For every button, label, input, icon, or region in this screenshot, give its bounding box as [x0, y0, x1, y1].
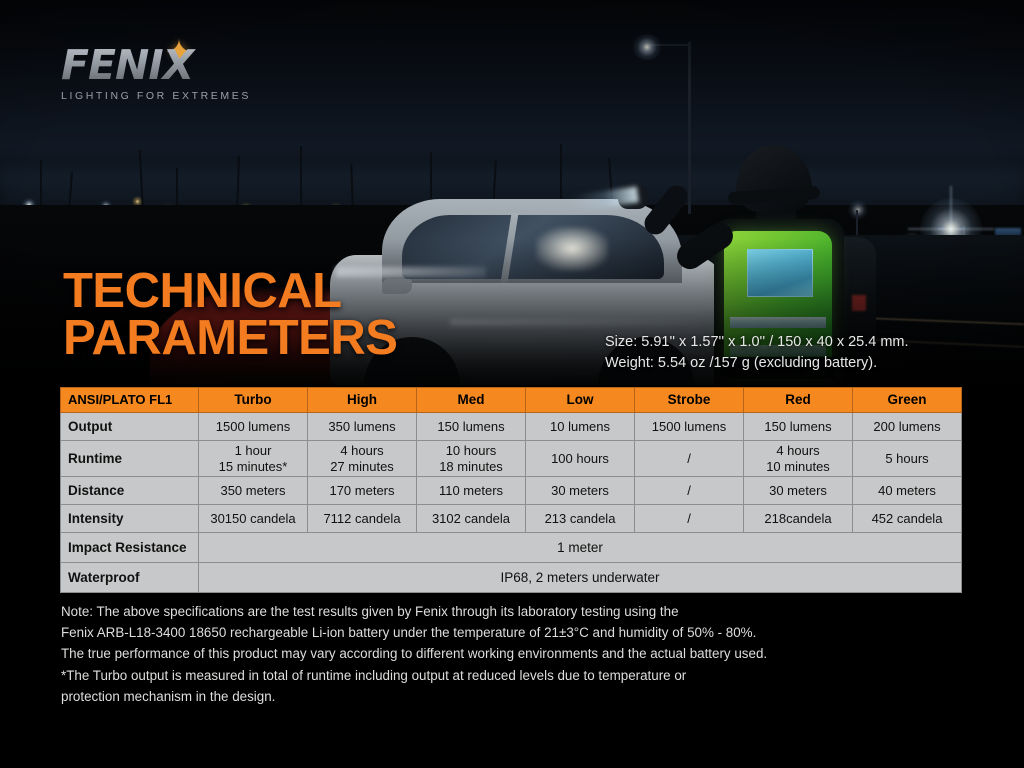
footnote-block: Note: The above specifications are the t… — [61, 601, 961, 707]
cell-runtime-green: 5 hours — [853, 441, 962, 477]
cell-runtime-strobe: / — [635, 441, 744, 477]
spec-table-wrapper: ANSI/PLATO FL1 Turbo High Med Low Strobe… — [60, 387, 962, 593]
cell-distance-med: 110 meters — [417, 477, 526, 505]
cell-line: 15 minutes* — [205, 459, 301, 474]
row-label-distance: Distance — [61, 477, 199, 505]
cell-distance-low: 30 meters — [526, 477, 635, 505]
row-label-waterproof: Waterproof — [61, 563, 199, 593]
cell-line: 18 minutes — [423, 459, 519, 474]
cell-output-low: 10 lumens — [526, 413, 635, 441]
cell-output-green: 200 lumens — [853, 413, 962, 441]
column-header-turbo: Turbo — [199, 388, 308, 413]
cell-output-strobe: 1500 lumens — [635, 413, 744, 441]
table-row: Waterproof IP68, 2 meters underwater — [61, 563, 962, 593]
cell-intensity-red: 218candela — [744, 505, 853, 533]
page-title-line2: PARAMETERS — [63, 315, 397, 362]
cell-distance-turbo: 350 meters — [199, 477, 308, 505]
size-text: Size: 5.91'' x 1.57'' x 1.0'' / 150 x 40… — [605, 332, 909, 353]
row-label-runtime: Runtime — [61, 441, 199, 477]
main-lamp-post — [688, 42, 691, 214]
car-interior-light — [536, 227, 608, 271]
table-row: Distance 350 meters 170 meters 110 meter… — [61, 477, 962, 505]
cell-line: 4 hours — [314, 443, 410, 458]
footnote-line-4: *The Turbo output is measured in total o… — [61, 665, 961, 686]
cell-distance-high: 170 meters — [308, 477, 417, 505]
column-header-red: Red — [744, 388, 853, 413]
row-label-intensity: Intensity — [61, 505, 199, 533]
cell-distance-green: 40 meters — [853, 477, 962, 505]
cell-waterproof-value: IP68, 2 meters underwater — [199, 563, 962, 593]
table-row: Intensity 30150 candela 7112 candela 310… — [61, 505, 962, 533]
footnote-line-5: protection mechanism in the design. — [61, 686, 961, 707]
column-header-high: High — [308, 388, 417, 413]
table-header-row: ANSI/PLATO FL1 Turbo High Med Low Strobe… — [61, 388, 962, 413]
column-header-strobe: Strobe — [635, 388, 744, 413]
cell-intensity-strobe: / — [635, 505, 744, 533]
cell-line: 1 hour — [205, 443, 301, 458]
cell-runtime-turbo: 1 hour 15 minutes* — [199, 441, 308, 477]
lens-flare-horizontal — [908, 228, 994, 230]
cell-runtime-low: 100 hours — [526, 441, 635, 477]
cell-intensity-med: 3102 candela — [417, 505, 526, 533]
column-header-low: Low — [526, 388, 635, 413]
table-row: Runtime 1 hour 15 minutes* 4 hours 27 mi… — [61, 441, 962, 477]
cell-output-high: 350 lumens — [308, 413, 417, 441]
column-header-green: Green — [853, 388, 962, 413]
cell-output-red: 150 lumens — [744, 413, 853, 441]
cell-output-med: 150 lumens — [417, 413, 526, 441]
silver-car-door-highlight — [450, 319, 700, 326]
cell-line: 10 hours — [423, 443, 519, 458]
cell-line: / — [641, 451, 737, 466]
column-header-ansi: ANSI/PLATO FL1 — [61, 388, 199, 413]
page-title: TECHNICAL PARAMETERS — [63, 268, 397, 362]
footnote-line-2: Fenix ARB-L18-3400 18650 rechargeable Li… — [61, 622, 961, 643]
cell-intensity-green: 452 candela — [853, 505, 962, 533]
page-canvas: ✦ FENIX LIGHTING FOR EXTREMES TECHNICAL … — [0, 0, 1024, 768]
logo-tagline: LIGHTING FOR EXTREMES — [61, 90, 291, 102]
logo-wordmark: FENIX — [61, 45, 291, 86]
cell-line: 27 minutes — [314, 459, 410, 474]
footnote-line-3: The true performance of this product may… — [61, 643, 961, 664]
main-lamp-glow — [632, 34, 662, 60]
row-label-impact-resistance: Impact Resistance — [61, 533, 199, 563]
column-header-med: Med — [417, 388, 526, 413]
table-row: Impact Resistance 1 meter — [61, 533, 962, 563]
vest-reflective-panel — [747, 249, 813, 297]
cell-runtime-med: 10 hours 18 minutes — [417, 441, 526, 477]
weight-text: Weight: 5.54 oz /157 g (excluding batter… — [605, 353, 909, 374]
table-row: Output 1500 lumens 350 lumens 150 lumens… — [61, 413, 962, 441]
fenix-logo: ✦ FENIX LIGHTING FOR EXTREMES — [61, 45, 291, 102]
backpack-red-patch — [852, 295, 866, 311]
cell-intensity-high: 7112 candela — [308, 505, 417, 533]
cell-line: 4 hours — [750, 443, 846, 458]
cell-impact-resistance-value: 1 meter — [199, 533, 962, 563]
vest-reflective-stripe — [730, 317, 826, 328]
cell-line: 10 minutes — [750, 459, 846, 474]
cell-runtime-high: 4 hours 27 minutes — [308, 441, 417, 477]
cell-line: 5 hours — [859, 451, 955, 466]
cell-intensity-low: 213 candela — [526, 505, 635, 533]
bare-tree-trunk — [300, 146, 302, 214]
row-label-output: Output — [61, 413, 199, 441]
cell-intensity-turbo: 30150 candela — [199, 505, 308, 533]
technical-parameters-table: ANSI/PLATO FL1 Turbo High Med Low Strobe… — [60, 387, 962, 593]
dimensions-block: Size: 5.91'' x 1.57'' x 1.0'' / 150 x 40… — [605, 332, 909, 375]
cell-line: 100 hours — [532, 451, 628, 466]
footnote-line-1: Note: The above specifications are the t… — [61, 601, 961, 622]
cell-distance-red: 30 meters — [744, 477, 853, 505]
cell-runtime-red: 4 hours 10 minutes — [744, 441, 853, 477]
cell-output-turbo: 1500 lumens — [199, 413, 308, 441]
cell-distance-strobe: / — [635, 477, 744, 505]
page-title-line1: TECHNICAL — [63, 264, 342, 318]
